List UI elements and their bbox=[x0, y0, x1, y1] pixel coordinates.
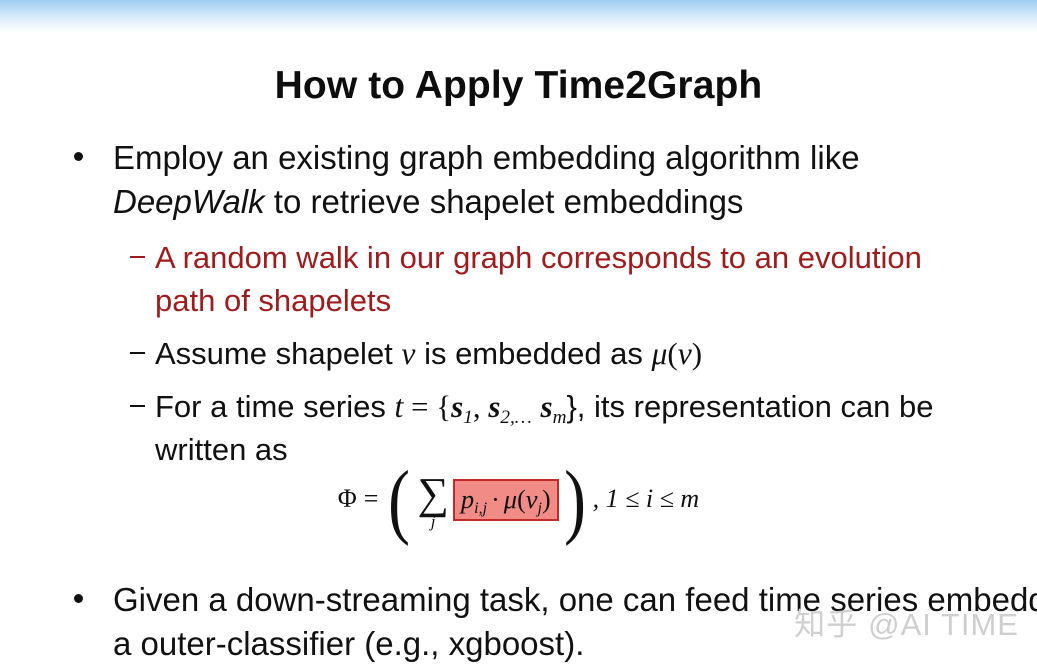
bullet-dot-icon bbox=[74, 594, 83, 603]
math-sub-p: i,j bbox=[474, 500, 487, 517]
bullet-dot-icon bbox=[74, 152, 83, 161]
bullet-text-deepwalk: DeepWalk bbox=[113, 183, 265, 220]
math-var-s2: s bbox=[488, 389, 500, 424]
summation-index: j bbox=[431, 513, 436, 530]
math-var-v: v bbox=[401, 336, 415, 371]
slide-canvas: How to Apply Time2Graph Employ an existi… bbox=[0, 0, 1037, 668]
equation-block: Φ = ( ∑ j pi,j·μ(vj) ) , 1 ≤ i ≤ m bbox=[0, 472, 1037, 526]
math-symbol-mu-boxed: μ bbox=[504, 484, 517, 514]
sub-bullet-random-walk: A random walk in our graph corresponds t… bbox=[0, 236, 1037, 322]
math-equals-brace: = { bbox=[403, 389, 451, 424]
math-sub-sm: m bbox=[553, 407, 567, 428]
bullet-text: Given a down-streaming task, one can fee… bbox=[113, 581, 1037, 662]
math-var-sm: s bbox=[541, 389, 553, 424]
math-var-s1: s bbox=[451, 389, 463, 424]
math-symbol-mu: μ bbox=[652, 336, 668, 371]
math-var-p: p bbox=[461, 484, 474, 514]
math-paren-open-boxed: ( bbox=[517, 485, 526, 514]
math-gap bbox=[532, 389, 541, 424]
sub-bullet-text-part1: Assume shapelet bbox=[155, 336, 401, 371]
slide-body: Employ an existing graph embedding algor… bbox=[0, 136, 1037, 471]
highlighted-term-box: pi,j·μ(vj) bbox=[453, 479, 559, 521]
sub-bullet-assume-shapelet: Assume shapelet v is embedded as μ(v) bbox=[0, 332, 1037, 375]
sub-bullet-text-part2: is embedded as bbox=[415, 336, 651, 371]
bullet-dash-icon bbox=[130, 256, 145, 258]
bullet-item-employ: Employ an existing graph embedding algor… bbox=[0, 136, 1037, 224]
bullet-item-downstream: Given a down-streaming task, one can fee… bbox=[0, 578, 1037, 666]
sub-bullet-text: A random walk in our graph corresponds t… bbox=[155, 240, 922, 318]
math-paren-open: ( bbox=[667, 336, 677, 371]
equation-range-condition: , 1 ≤ i ≤ m bbox=[593, 484, 700, 514]
bullet-dash-icon bbox=[130, 405, 145, 407]
bullet-text-part2: to retrieve shapelet embeddings bbox=[265, 183, 744, 220]
sub-bullet-text-part1: For a time series bbox=[155, 389, 394, 424]
page-title: How to Apply Time2Graph bbox=[0, 64, 1037, 108]
bullet-text-part1: Employ an existing graph embedding algor… bbox=[113, 139, 860, 176]
math-var-v2: v bbox=[678, 336, 692, 371]
top-gradient-band bbox=[0, 0, 1037, 34]
math-sub-s2: 2,… bbox=[500, 407, 531, 428]
sub-bullet-time-series: For a time series t = {s1, s2,… sm}, its… bbox=[0, 385, 1037, 471]
math-sub-s1: 1 bbox=[463, 407, 473, 428]
equation-inline: Φ = ( ∑ j pi,j·μ(vj) ) , 1 ≤ i ≤ m bbox=[338, 472, 699, 526]
math-paren-close-boxed: ) bbox=[542, 485, 551, 514]
math-symbol-phi: Φ bbox=[338, 484, 357, 514]
math-paren-close: ) bbox=[692, 336, 702, 371]
math-dot-operator: · bbox=[491, 485, 500, 514]
math-var-v-boxed: v bbox=[526, 484, 538, 514]
summation-group: ∑ j bbox=[417, 476, 448, 530]
sigma-icon: ∑ bbox=[417, 476, 448, 512]
math-equals: = bbox=[364, 484, 379, 514]
bullet-dash-icon bbox=[130, 352, 145, 354]
math-comma-1: , bbox=[473, 389, 489, 424]
math-var-t: t bbox=[394, 389, 403, 424]
